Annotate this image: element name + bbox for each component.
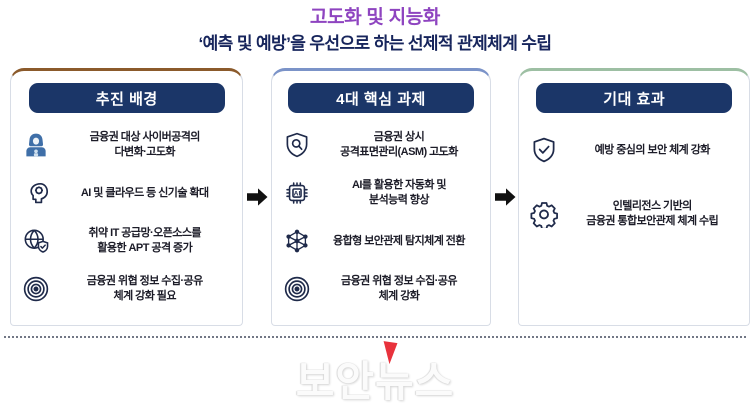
panel-core-tasks: 4대 핵심 과제 금융권 상시 공격표면관리(ASM) 고도화: [271, 68, 491, 326]
list-item-label: 취약 IT 공급망·오픈소스를 활용한 APT 공격 증가: [57, 226, 232, 256]
list-item-label: 금융권 상시 공격표면관리(ASM) 고도화: [318, 130, 480, 160]
hacker-icon: [21, 130, 51, 160]
page-subtitle: ‘예측 및 예방’을 우선으로 하는 선제적 관제체계 수립: [0, 33, 750, 55]
list-item-label: 금융권 위협 정보 수집·공유 체계 강화: [318, 274, 480, 304]
page-title: 고도화 및 지능화: [0, 6, 750, 30]
list-item: 금융권 위협 정보 수집·공유 체계 강화 필요: [19, 274, 234, 304]
globe-shield-icon: [21, 226, 51, 256]
list-item-label: 예방 중심의 보안 체계 강화: [565, 143, 739, 158]
watermark-accent-icon: [380, 341, 397, 365]
dotted-divider: [4, 336, 746, 338]
title-block: 고도화 및 지능화 ‘예측 및 예방’을 우선으로 하는 선제적 관제체계 수립: [0, 0, 750, 55]
right-arrow-icon: [493, 185, 517, 209]
arrow-tasks-to-effects: [491, 68, 519, 326]
list-item-label: AI 및 클라우드 등 신기술 확대: [57, 186, 232, 201]
list-item-label: 인텔리전스 기반의 금융권 통합보안관제 체계 수립: [565, 199, 739, 229]
target-icon: [282, 274, 312, 304]
panel-core-tasks-items: 금융권 상시 공격표면관리(ASM) 고도화 AI AI를 활용한 자동화 및 …: [280, 119, 482, 319]
network-node-icon: [282, 226, 312, 256]
panel-expected-effects: 기대 효과 예방 중심의 보안 체계 강화: [518, 68, 750, 326]
list-item: 취약 IT 공급망·오픈소스를 활용한 APT 공격 증가: [19, 226, 234, 256]
panel-expected-effects-items: 예방 중심의 보안 체계 강화 인텔리전스 기반의 금융권 통합보안관제 체계 …: [527, 119, 741, 319]
infographic-root: 고도화 및 지능화 ‘예측 및 예방’을 우선으로 하는 선제적 관제체계 수립…: [0, 0, 750, 420]
list-item: 인텔리전스 기반의 금융권 통합보안관제 체계 수립: [527, 199, 741, 229]
ai-chip-icon: AI: [282, 178, 312, 208]
panel-background: 추진 배경 금융권 대상 사이버공격의 다변화·고도화: [10, 68, 243, 326]
list-item: AI AI를 활용한 자동화 및 분석능력 향상: [280, 178, 482, 208]
panel-expected-effects-title: 기대 효과: [536, 83, 732, 113]
list-item: 융합형 보안관제 탐지체계 전환: [280, 226, 482, 256]
list-item: 금융권 위협 정보 수집·공유 체계 강화: [280, 274, 482, 304]
panel-core-tasks-title: 4대 핵심 과제: [288, 83, 474, 113]
arrow-background-to-tasks: [243, 68, 271, 326]
panel-background-items: 금융권 대상 사이버공격의 다변화·고도화 AI 및 클라우드 등 신기술 확대: [19, 119, 234, 319]
list-item: 금융권 대상 사이버공격의 다변화·고도화: [19, 130, 234, 160]
list-item: AI 및 클라우드 등 신기술 확대: [19, 178, 234, 208]
watermark: 보안뉴스: [0, 348, 750, 409]
list-item-label: 융합형 보안관제 탐지체계 전환: [318, 234, 480, 249]
target-icon: [21, 274, 51, 304]
brain-gear-icon: [21, 178, 51, 208]
gear-icon: [529, 199, 559, 229]
shield-check-icon: [529, 135, 559, 165]
shield-search-icon: [282, 130, 312, 160]
panel-background-title: 추진 배경: [29, 83, 225, 113]
panels-row: 추진 배경 금융권 대상 사이버공격의 다변화·고도화: [0, 68, 750, 326]
list-item: 예방 중심의 보안 체계 강화: [527, 135, 741, 165]
watermark-text: 보안뉴스: [296, 348, 455, 409]
list-item-label: AI를 활용한 자동화 및 분석능력 향상: [318, 178, 480, 208]
list-item: 금융권 상시 공격표면관리(ASM) 고도화: [280, 130, 482, 160]
list-item-label: 금융권 대상 사이버공격의 다변화·고도화: [57, 130, 232, 160]
svg-text:AI: AI: [294, 191, 301, 198]
list-item-label: 금융권 위협 정보 수집·공유 체계 강화 필요: [57, 274, 232, 304]
right-arrow-icon: [245, 185, 269, 209]
watermark-label: 보안뉴스: [296, 358, 455, 405]
